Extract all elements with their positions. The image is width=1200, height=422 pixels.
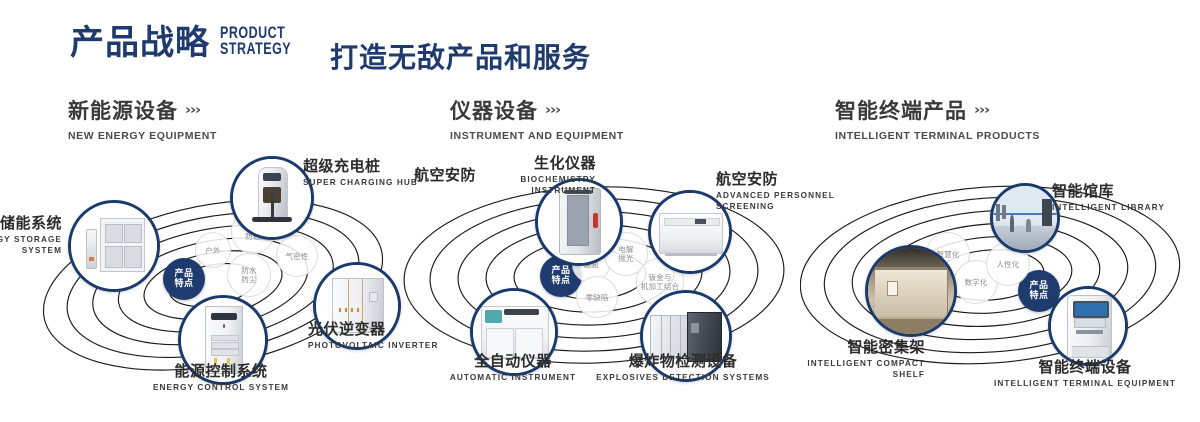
- section-title-cn: 智能终端产品: [835, 95, 967, 125]
- brand-header: 产品战略 PRODUCT STRATEGY: [70, 26, 291, 60]
- chevrons-right-icon: ›››: [974, 103, 989, 118]
- caption-cn: 智能馆库: [1052, 180, 1165, 201]
- feature-bubble-outdoor: 户外: [195, 232, 231, 268]
- headline: 打造无敌产品和服务: [330, 36, 591, 76]
- self-service-kiosk-icon: [1051, 289, 1125, 363]
- caption-en-line1: BIOCHEMISTRY: [456, 175, 596, 184]
- caption-en-line1: ENERGY CONTROL SYSTEM: [126, 383, 316, 392]
- caption-en-line2: INSTRUMENT: [456, 186, 596, 195]
- section-title-cn-wrap: 仪器设备 ›››: [450, 95, 624, 125]
- core-badge-line2: 特点: [1029, 291, 1048, 301]
- caption-cn: 生化仪器: [456, 152, 596, 173]
- core-badge-line2: 特点: [551, 276, 570, 286]
- feature-line1: 钣金与: [648, 273, 671, 282]
- feature-line1: 零缺陷: [585, 293, 608, 302]
- caption-en-line1: AUTOMATIC INSTRUMENT: [418, 373, 608, 382]
- cluster-instrument: 产品 特点 镜面 电解 抛光 零缺陷 钣金与 机加工结合 航空安防: [398, 150, 798, 400]
- core-badge-line1: 产品: [551, 266, 570, 276]
- caption-automatic-instrument: 全自动仪器 AUTOMATIC INSTRUMENT: [418, 350, 608, 382]
- feature-bubble-zero-defect: 零缺陷: [576, 276, 618, 318]
- caption-biochemistry-instrument: 生化仪器 BIOCHEMISTRY INSTRUMENT: [456, 152, 596, 195]
- compact-shelf-icon: [868, 248, 954, 334]
- core-badge-product-features: 产品 特点: [163, 258, 205, 300]
- caption-cn: 智能终端设备: [990, 356, 1180, 377]
- core-badge-line2: 特点: [174, 279, 193, 289]
- caption-explosives-detection: 爆炸物检测设备 EXPLOSIVES DETECTION SYSTEMS: [588, 350, 778, 382]
- core-badge-line1: 产品: [1029, 281, 1048, 291]
- section-title-instrument: 仪器设备 ››› INSTRUMENT AND EQUIPMENT: [450, 95, 624, 142]
- caption-en-line1: EXPLOSIVES DETECTION SYSTEMS: [588, 373, 778, 382]
- feature-line2: 抛光: [618, 254, 633, 263]
- feature-line2: 机加工结合: [641, 282, 680, 291]
- caption-en-line1: INTELLIGENT TERMINAL EQUIPMENT: [990, 379, 1180, 388]
- feature-line2: 防尘: [241, 275, 256, 284]
- feature-line1: 防水: [241, 266, 256, 275]
- feature-line1: 电解: [618, 245, 633, 254]
- caption-cn: 爆炸物检测设备: [588, 350, 778, 371]
- library-interior-icon: [993, 186, 1057, 250]
- feature-line1: 人性化: [996, 260, 1019, 269]
- feature-bubble-waterproof: 防水 防尘: [227, 253, 271, 297]
- charger-pillar: [86, 229, 97, 269]
- caption-intelligent-library: 智能馆库 INTELLIGENT LIBRARY: [1052, 180, 1165, 212]
- caption-cn: 储能系统: [0, 212, 62, 233]
- caption-en-line1: INTELLIGENT COMPACT: [790, 359, 925, 368]
- section-title-en: INSTRUMENT AND EQUIPMENT: [450, 130, 624, 142]
- caption-en-line2: SYSTEM: [0, 246, 62, 255]
- cluster-new-energy: 产品 特点 户外 防腐 防锈 防水 防尘 气密性: [8, 150, 408, 400]
- chevrons-right-icon: ›››: [545, 103, 560, 118]
- photo-bubble-terminal-equipment[interactable]: [1048, 286, 1128, 366]
- feature-line1: 数字化: [964, 278, 987, 287]
- caption-terminal-equipment: 智能终端设备 INTELLIGENT TERMINAL EQUIPMENT: [990, 356, 1180, 388]
- section-title-cn-wrap: 智能终端产品 ›››: [835, 95, 1040, 125]
- feature-line1: 户外: [205, 246, 220, 255]
- section-title-cn-wrap: 新能源设备 ›››: [68, 95, 217, 125]
- caption-compact-shelf: 智能密集架 INTELLIGENT COMPACT SHELF: [790, 336, 925, 379]
- caption-cn: 智能密集架: [790, 336, 925, 357]
- brand-title-en: PRODUCT STRATEGY: [220, 26, 291, 58]
- brand-title-cn: 产品战略: [70, 26, 210, 60]
- cluster-intelligent-terminal: 产品 特点 智慧化 数字化 人性化: [800, 150, 1200, 400]
- caption-cn: 全自动仪器: [418, 350, 608, 371]
- feature-line1: 气密性: [285, 252, 308, 261]
- section-title-en: INTELLIGENT TERMINAL PRODUCTS: [835, 130, 1040, 142]
- photo-bubble-intelligent-library[interactable]: [990, 183, 1060, 253]
- feature-bubble-airtightness: 气密性: [276, 235, 318, 277]
- caption-en-line1: INTELLIGENT LIBRARY: [1052, 203, 1165, 212]
- core-badge-line1: 产品: [174, 269, 193, 279]
- section-title-intelligent-terminal: 智能终端产品 ››› INTELLIGENT TERMINAL PRODUCTS: [835, 95, 1040, 142]
- section-title-cn: 仪器设备: [450, 95, 538, 125]
- cabinet-body: [100, 218, 145, 272]
- ev-charger-icon: [233, 159, 311, 237]
- caption-energy-control: 能源控制系统 ENERGY CONTROL SYSTEM: [126, 360, 316, 392]
- section-title-en: NEW ENERGY EQUIPMENT: [68, 130, 217, 142]
- caption-en-line2: SHELF: [790, 370, 925, 379]
- section-title-new-energy: 新能源设备 ››› NEW ENERGY EQUIPMENT: [68, 95, 217, 142]
- chevrons-right-icon: ›››: [185, 103, 200, 118]
- caption-cn: 能源控制系统: [126, 360, 316, 381]
- photo-bubble-energy-storage[interactable]: [68, 200, 160, 292]
- product-strategy-infographic: 产品战略 PRODUCT STRATEGY 打造无敌产品和服务 新能源设备 ››…: [0, 0, 1200, 422]
- brand-title-en-line2: STRATEGY: [220, 42, 291, 58]
- photo-bubble-compact-shelf[interactable]: [865, 245, 957, 337]
- caption-energy-storage: 储能系统 ENERGY STORAGE SYSTEM: [0, 212, 62, 255]
- caption-en-line1: ENERGY STORAGE: [0, 235, 62, 244]
- battery-cabinet-icon: [71, 203, 157, 289]
- section-title-cn: 新能源设备: [68, 95, 178, 125]
- photo-bubble-charging-hub[interactable]: [230, 156, 314, 240]
